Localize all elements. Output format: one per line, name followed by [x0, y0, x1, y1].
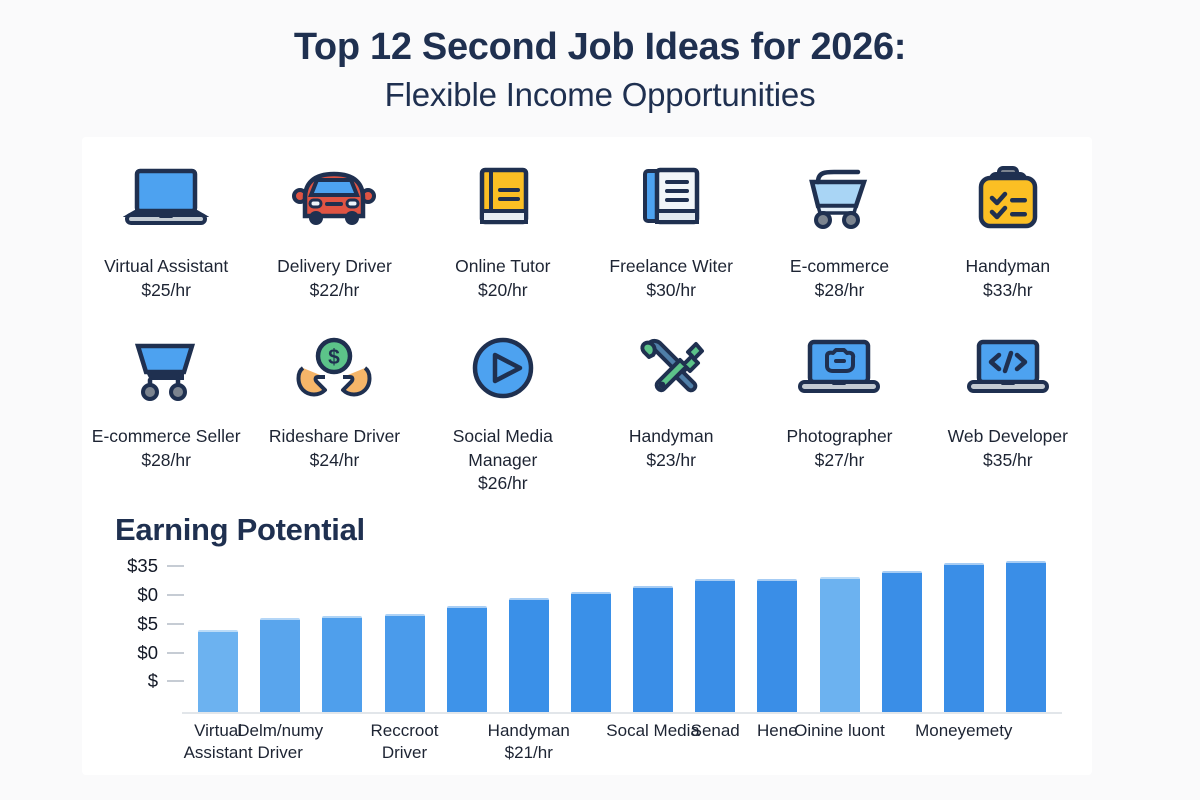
job-rate: $33/hr [983, 279, 1033, 303]
job-card-online-tutor[interactable]: Online Tutor $20/hr [419, 155, 587, 302]
laptop-icon [123, 155, 209, 247]
job-card-handyman-tools[interactable]: Handyman $23/hr [587, 325, 755, 496]
job-rate: $30/hr [646, 279, 696, 303]
chart-y-tick-mark [167, 594, 184, 596]
title-secondary: Flexible Income Opportunities [0, 75, 1200, 115]
job-grid-row-1: Virtual Assistant $25/hr Delivery Driver [82, 155, 1092, 302]
job-card-ecommerce[interactable]: E-commerce $28/hr [755, 155, 923, 302]
job-rate: $25/hr [141, 279, 191, 303]
chart-y-tick-mark [167, 565, 184, 567]
chart-bar [571, 592, 611, 712]
job-label: Delivery Driver [277, 255, 392, 279]
chart-bar [1006, 561, 1046, 712]
chart-bar [447, 606, 487, 712]
job-label: Social Media Manager [428, 425, 578, 472]
chart-y-tick-label: $35 [127, 555, 158, 577]
job-label: Rideshare Driver [269, 425, 400, 449]
chart-x-tick-label: Moneyemety [909, 720, 1019, 742]
chart-y-axis: $35$0$5$0$ [112, 557, 184, 697]
job-label: Photographer [786, 425, 892, 449]
chart-bar [633, 586, 673, 712]
document-icon [628, 155, 714, 247]
job-card-ecommerce-seller[interactable]: E-commerce Seller $28/hr [82, 325, 250, 496]
job-rate: $22/hr [310, 279, 360, 303]
page-title: Top 12 Second Job Ideas for 2026: Flexib… [0, 26, 1200, 114]
job-label: E-commerce Seller [92, 425, 241, 449]
job-label: Handyman [966, 255, 1051, 279]
chart-bar [509, 598, 549, 712]
chart-y-tick-label: $5 [137, 613, 158, 635]
chart-bar [757, 579, 797, 712]
book-icon [460, 155, 546, 247]
job-label: Handyman [629, 425, 714, 449]
job-rate: $27/hr [815, 449, 865, 473]
job-label: Online Tutor [455, 255, 550, 279]
shopping-cart-filled-icon [123, 325, 209, 417]
chart-bar [820, 577, 860, 712]
job-grid-row-2: E-commerce Seller $28/hr $ Rideshare Dri… [82, 325, 1092, 496]
chart-y-tick-mark [167, 680, 184, 682]
job-card-photographer[interactable]: Photographer $27/hr [755, 325, 923, 496]
earning-potential-bar-chart: $35$0$5$0$ Virtual AssistantDelm/numy Dr… [82, 557, 1092, 775]
job-card-freelance-writer[interactable]: Freelance Witer $30/hr [587, 155, 755, 302]
job-rate: $24/hr [310, 449, 360, 473]
hands-holding-money-icon: $ [291, 325, 377, 417]
chart-baseline [182, 712, 1062, 714]
job-card-virtual-assistant[interactable]: Virtual Assistant $25/hr [82, 155, 250, 302]
job-card-rideshare-driver[interactable]: $ Rideshare Driver $24/hr [250, 325, 418, 496]
chart-bar [198, 630, 238, 712]
chart-y-tick-label: $0 [137, 584, 158, 606]
chart-plot-area [187, 557, 1057, 712]
shopping-cart-outline-icon [796, 155, 882, 247]
title-primary: Top 12 Second Job Ideas for 2026: [0, 26, 1200, 69]
chart-x-tick-label: Delm/numy Driver [225, 720, 335, 765]
clipboard-checklist-icon [965, 155, 1051, 247]
chart-y-tick-mark [167, 652, 184, 654]
chart-bar [695, 579, 735, 712]
chart-x-tick-label: Handyman $21/hr [474, 720, 584, 765]
chart-bar [260, 618, 300, 712]
chart-y-tick-label: $0 [137, 642, 158, 664]
chart-x-axis-labels: Virtual AssistantDelm/numy DriverReccroo… [187, 720, 1067, 775]
chart-y-tick-mark [167, 623, 184, 625]
chart-title: Earning Potential [115, 512, 365, 548]
job-label: Web Developer [948, 425, 1068, 449]
job-label: Virtual Assistant [104, 255, 228, 279]
svg-text:$: $ [329, 346, 341, 369]
job-rate: $28/hr [141, 449, 191, 473]
chart-bar [385, 614, 425, 712]
wrench-hammer-icon [628, 325, 714, 417]
chart-bar [882, 571, 922, 712]
job-card-handyman-clipboard[interactable]: Handyman $33/hr [924, 155, 1092, 302]
chart-x-tick-label: Reccroot Driver [350, 720, 460, 765]
job-rate: $35/hr [983, 449, 1033, 473]
job-card-social-media-manager[interactable]: Social Media Manager $26/hr [419, 325, 587, 496]
job-rate: $28/hr [815, 279, 865, 303]
chart-bar [944, 563, 984, 712]
chart-y-tick-label: $ [148, 670, 158, 692]
job-rate: $26/hr [478, 472, 528, 496]
chart-x-tick-label: Oinine luont [785, 720, 895, 742]
car-icon [291, 155, 377, 247]
content-card: Virtual Assistant $25/hr Delivery Driver [82, 137, 1092, 775]
job-label: Freelance Witer [609, 255, 733, 279]
job-label: E-commerce [790, 255, 889, 279]
job-rate: $23/hr [646, 449, 696, 473]
play-button-icon [460, 325, 546, 417]
laptop-camera-icon [796, 325, 882, 417]
job-card-web-developer[interactable]: Web Developer $35/hr [924, 325, 1092, 496]
chart-bar [322, 616, 362, 712]
job-card-delivery-driver[interactable]: Delivery Driver $22/hr [250, 155, 418, 302]
laptop-code-icon [965, 325, 1051, 417]
job-rate: $20/hr [478, 279, 528, 303]
